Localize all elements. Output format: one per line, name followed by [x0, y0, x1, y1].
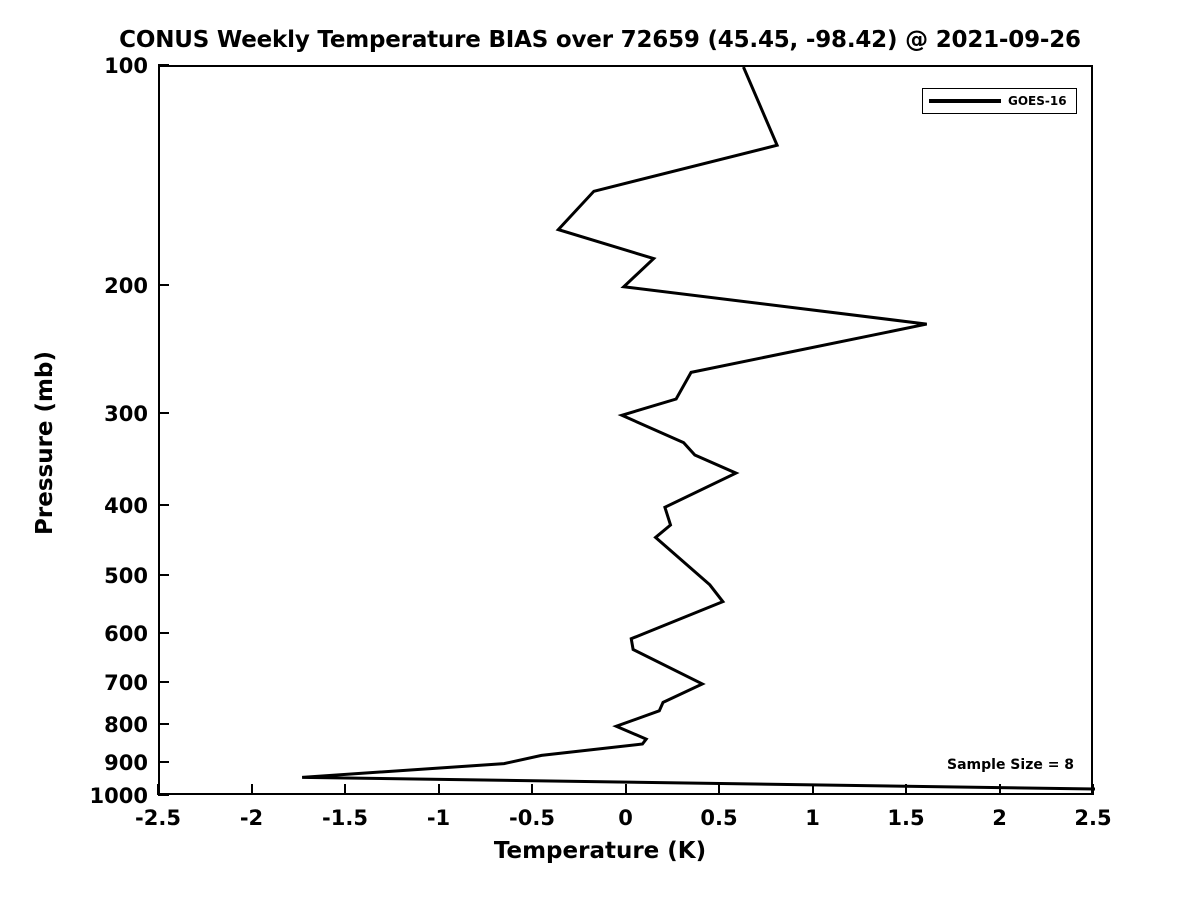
legend-swatch-goes-16: [929, 99, 1001, 103]
page-title: CONUS Weekly Temperature BIAS over 72659…: [0, 27, 1200, 53]
y-tick-mark: [158, 794, 169, 796]
y-tick-label: 1000: [28, 784, 148, 808]
x-tick-mark: [531, 784, 533, 795]
y-tick-mark: [158, 632, 169, 634]
plot-area: [158, 65, 1093, 795]
legend: GOES-16: [922, 88, 1077, 114]
legend-label-goes-16: GOES-16: [1008, 94, 1067, 108]
y-tick-mark: [158, 412, 169, 414]
x-tick-mark: [812, 784, 814, 795]
y-tick-mark: [158, 504, 169, 506]
x-tick-mark: [157, 784, 159, 795]
data-line-svg: [160, 67, 1095, 797]
y-tick-mark: [158, 761, 169, 763]
y-tick-mark: [158, 723, 169, 725]
y-tick-mark: [158, 64, 169, 66]
y-tick-label: 700: [28, 671, 148, 695]
x-tick-mark: [625, 784, 627, 795]
x-tick-mark: [1092, 784, 1094, 795]
sample-size-annotation: Sample Size = 8: [947, 757, 1074, 773]
x-tick-mark: [438, 784, 440, 795]
y-axis-label: Pressure (mb): [32, 243, 58, 643]
x-tick-mark: [251, 784, 253, 795]
y-tick-label: 100: [28, 54, 148, 78]
x-tick-mark: [999, 784, 1001, 795]
chart-canvas: CONUS Weekly Temperature BIAS over 72659…: [0, 0, 1200, 900]
x-axis-label: Temperature (K): [0, 838, 1200, 864]
x-tick-mark: [905, 784, 907, 795]
y-tick-label: 900: [28, 751, 148, 775]
series-line-goes-16: [302, 67, 1095, 789]
y-tick-mark: [158, 284, 169, 286]
x-tick-mark: [718, 784, 720, 795]
y-tick-mark: [158, 574, 169, 576]
x-tick-label: 2.5: [1033, 806, 1153, 830]
x-tick-mark: [344, 784, 346, 795]
y-tick-label: 800: [28, 713, 148, 737]
y-tick-mark: [158, 681, 169, 683]
